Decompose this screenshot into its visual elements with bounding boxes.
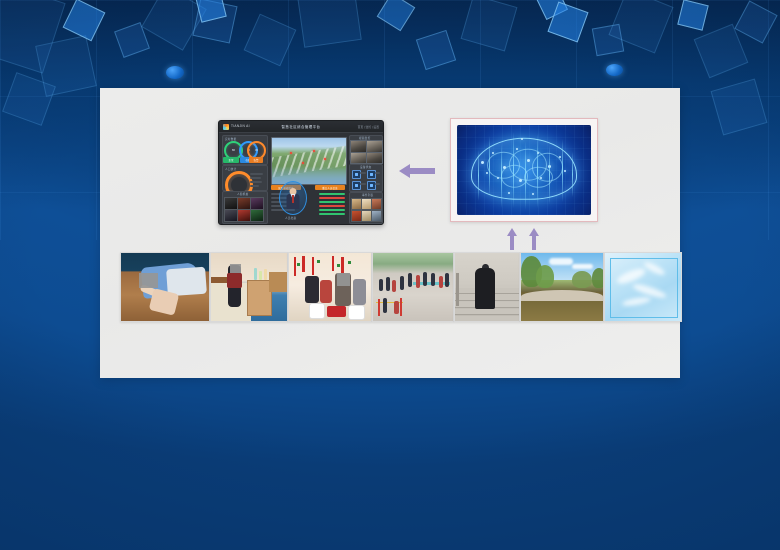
city-map-3d-view[interactable] <box>271 137 347 185</box>
slide-canvas: TIANJIN AI 智慧社区综合管理平台 首页 | 监控 | 设置 实时数据 … <box>0 0 780 550</box>
photo-4[interactable] <box>372 252 454 322</box>
photo-3[interactable] <box>288 252 372 322</box>
dashboard-titlebar: TIANJIN AI 智慧社区综合管理平台 首页 | 监控 | 设置 <box>219 121 383 133</box>
photo-7[interactable] <box>604 252 682 322</box>
person-profile-avatar <box>279 181 307 215</box>
bar-button-2[interactable]: 重点人员信息 <box>315 185 345 190</box>
gauges-card-label: 实时数据 <box>225 137 237 141</box>
flow-arrow-up-2 <box>528 228 540 250</box>
donut-card-label: 人口统计 <box>225 167 237 171</box>
camera-feed-4[interactable] <box>366 152 383 164</box>
scene-photo-strip <box>120 252 680 320</box>
gauge-1-pill[interactable]: 正常 <box>223 157 239 163</box>
brain-image <box>457 125 591 215</box>
dashboard-menu[interactable]: 首页 | 监控 | 设置 <box>358 125 379 129</box>
digital-brain-neural-network[interactable] <box>450 118 598 222</box>
device-card-label: 设备状态 <box>360 165 372 169</box>
flow-arrow-up-1 <box>506 228 518 250</box>
gauge-3-value: 45 <box>249 143 264 158</box>
photo-6[interactable] <box>520 252 604 322</box>
gauge-3-pill[interactable]: 告警 <box>249 157 263 163</box>
faces-card-label: 人脸抓拍 <box>237 192 249 196</box>
photo-1[interactable] <box>120 252 210 322</box>
photo-2[interactable] <box>210 252 288 322</box>
photo-5[interactable] <box>454 252 520 322</box>
flow-arrow-left <box>399 163 435 179</box>
camera-feed-3[interactable] <box>350 152 367 164</box>
avatar-caption: 人员档案 <box>285 216 297 220</box>
dashboard-screenshot[interactable]: TIANJIN AI 智慧社区综合管理平台 首页 | 监控 | 设置 实时数据 … <box>218 120 384 225</box>
event-card-label: 事件列表 <box>362 193 374 197</box>
content-panel: TIANJIN AI 智慧社区综合管理平台 首页 | 监控 | 设置 实时数据 … <box>100 88 680 378</box>
